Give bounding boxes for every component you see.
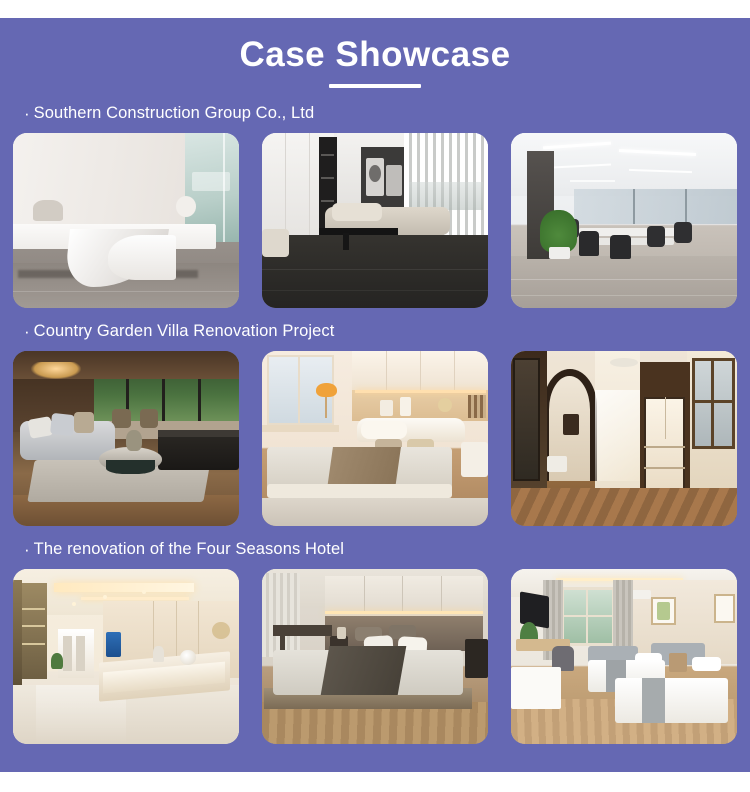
case-image-arched-hallway-fridge[interactable] — [511, 351, 737, 526]
case-image-open-plan-office[interactable] — [511, 133, 737, 308]
photo-twin-bed-hotel-room — [511, 569, 737, 744]
photo-cream-bedroom-window — [262, 351, 488, 526]
section-heading: · Southern Construction Group Co., Ltd — [0, 100, 750, 126]
image-row — [0, 351, 750, 526]
bullet-icon: · — [24, 323, 30, 340]
photo-luxury-living-room-forest-view — [13, 351, 239, 526]
bullet-icon: · — [24, 541, 30, 558]
case-image-dark-floor-living-room[interactable] — [262, 133, 488, 308]
photo-arched-hallway-fridge — [511, 351, 737, 526]
section-country-garden-villa: · Country Garden Villa Renovation Projec… — [0, 318, 750, 526]
case-image-modern-hotel-bedroom[interactable] — [262, 569, 488, 744]
photo-modern-hotel-bedroom — [262, 569, 488, 744]
case-image-white-sculptural-reception-desk[interactable] — [13, 133, 239, 308]
section-heading: · The renovation of the Four Seasons Hot… — [0, 536, 750, 562]
title-underline — [329, 84, 421, 88]
showcase-page: Case Showcase · Southern Construction Gr… — [0, 18, 750, 772]
bullet-icon: · — [24, 105, 30, 122]
image-row — [0, 133, 750, 308]
photo-open-plan-office — [511, 133, 737, 308]
section-four-seasons-hotel: · The renovation of the Four Seasons Hot… — [0, 536, 750, 744]
section-title: The renovation of the Four Seasons Hotel — [34, 540, 344, 559]
case-image-cream-bedroom-window[interactable] — [262, 351, 488, 526]
photo-dark-floor-living-room — [262, 133, 488, 308]
photo-hotel-lobby-reception — [13, 569, 239, 744]
image-row — [0, 569, 750, 744]
section-heading: · Country Garden Villa Renovation Projec… — [0, 318, 750, 344]
page-header: Case Showcase — [0, 18, 750, 88]
case-image-luxury-living-room-forest-view[interactable] — [13, 351, 239, 526]
section-southern-construction: · Southern Construction Group Co., Ltd — [0, 100, 750, 308]
page-title: Case Showcase — [239, 34, 510, 76]
section-title: Country Garden Villa Renovation Project — [34, 322, 335, 341]
section-title: Southern Construction Group Co., Ltd — [34, 104, 315, 123]
case-image-twin-bed-hotel-room[interactable] — [511, 569, 737, 744]
photo-white-sculptural-reception-desk — [13, 133, 239, 308]
case-image-hotel-lobby-reception[interactable] — [13, 569, 239, 744]
